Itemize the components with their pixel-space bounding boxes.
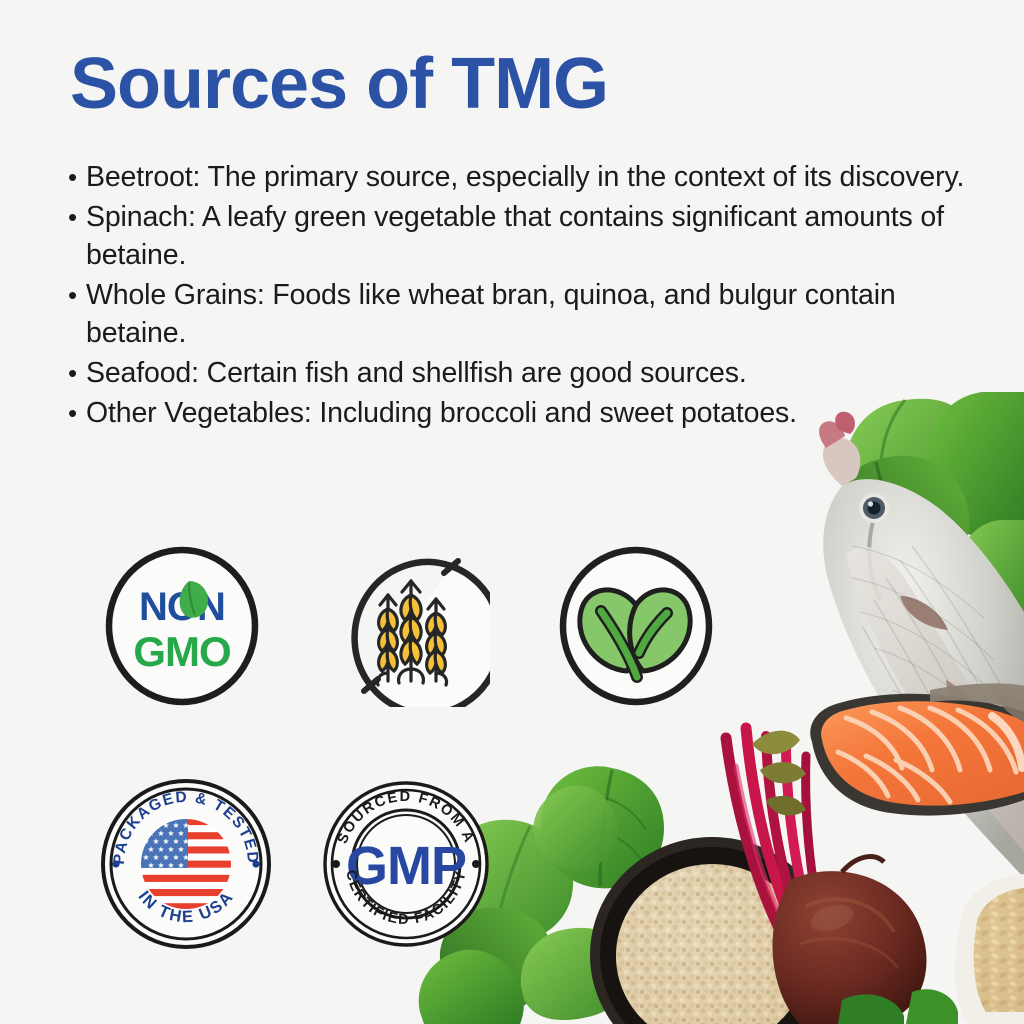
non-gmo-icon: NON GMO <box>103 545 261 707</box>
quinoa-bowl <box>590 837 834 1024</box>
beetroot <box>772 857 926 1024</box>
salmon-skin-top <box>930 683 1024 712</box>
svg-text:★: ★ <box>167 861 174 870</box>
gluten-free-badge <box>332 545 490 707</box>
usa-flag-circle-icon: ★★★★★ ★★★★ ★★★★★ ★★★★ ★★★★★ ★★★★ PACKAGE… <box>100 778 272 950</box>
non-gmo-badge: NON GMO <box>103 545 261 707</box>
gmp-center-text: GMP <box>346 836 466 896</box>
seeds-bowl <box>955 874 1024 1024</box>
bullet-marker-icon: • <box>68 158 86 196</box>
list-item: • Seafood: Certain fish and shellfish ar… <box>68 354 973 392</box>
gmp-certified-badge: GMP SOURCED FROM A CERTIFIED FACILITY <box>322 780 490 948</box>
list-item-text: Seafood: Certain fish and shellfish are … <box>86 354 973 392</box>
packaged-tested-usa-badge: ★★★★★ ★★★★ ★★★★★ ★★★★ ★★★★★ ★★★★ PACKAGE… <box>100 778 272 950</box>
bullet-marker-icon: • <box>68 394 86 432</box>
poster-canvas: Sources of TMG • Beetroot: The primary s… <box>0 0 1024 1024</box>
bullet-marker-icon: • <box>68 354 86 392</box>
bullet-marker-icon: • <box>68 276 86 314</box>
bullet-marker-icon: • <box>68 198 86 236</box>
plant-based-badge <box>557 545 715 707</box>
svg-text:★: ★ <box>177 861 184 870</box>
list-item-text: Beetroot: The primary source, especially… <box>86 158 973 196</box>
page-title: Sources of TMG <box>70 48 608 120</box>
list-item: • Spinach: A leafy green vegetable that … <box>68 198 973 274</box>
list-item-text: Spinach: A leafy green vegetable that co… <box>86 198 973 274</box>
svg-text:★: ★ <box>147 861 154 870</box>
two-leaves-icon <box>557 545 715 707</box>
list-item-text: Other Vegetables: Including broccoli and… <box>86 394 973 432</box>
beet-stems <box>726 728 822 930</box>
gmp-seal-icon: GMP SOURCED FROM A CERTIFIED FACILITY <box>322 780 490 948</box>
sources-list: • Beetroot: The primary source, especial… <box>68 158 973 434</box>
svg-text:★: ★ <box>157 861 164 870</box>
salmon-steak <box>810 694 1024 816</box>
list-item-text: Whole Grains: Foods like wheat bran, qui… <box>86 276 973 352</box>
list-item: • Whole Grains: Foods like wheat bran, q… <box>68 276 973 352</box>
whole-fish <box>819 412 1024 878</box>
spinach-sprig-under-beet <box>838 989 958 1024</box>
list-item: • Beetroot: The primary source, especial… <box>68 158 973 196</box>
list-item: • Other Vegetables: Including broccoli a… <box>68 394 973 432</box>
wheat-stalks-crossed-icon <box>332 545 490 707</box>
non-gmo-line2: GMO <box>133 628 230 675</box>
